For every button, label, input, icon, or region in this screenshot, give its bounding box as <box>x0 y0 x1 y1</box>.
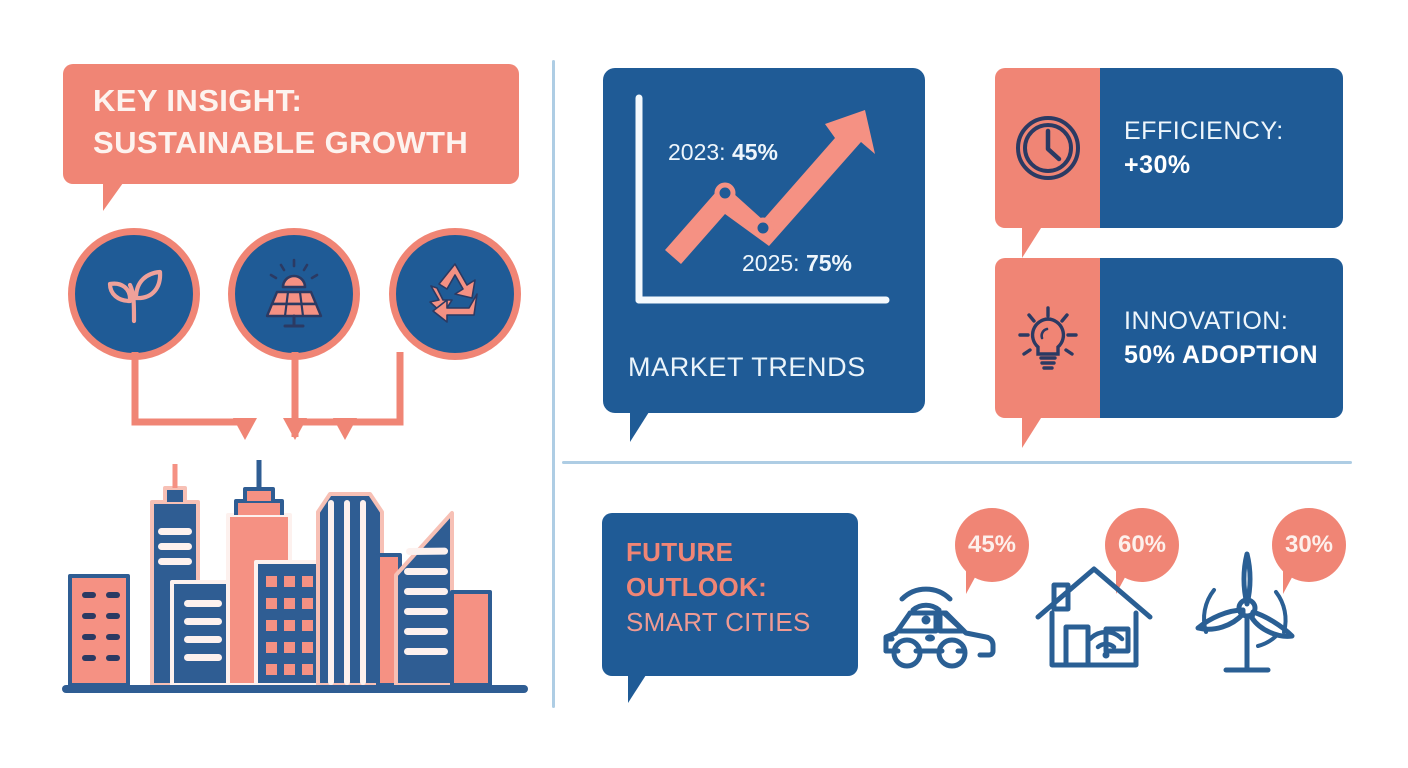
future-outlook-line-1: FUTURE <box>626 535 858 570</box>
future-outlook-tail <box>628 675 646 703</box>
recycle-icon[interactable] <box>389 228 521 360</box>
chart-label-2025: 2025: 75% <box>742 250 852 277</box>
city-skyline <box>60 440 530 705</box>
future-outlook-line-3: SMART CITIES <box>626 605 858 640</box>
efficiency-text: EFFICIENCY: +30% <box>1100 68 1343 228</box>
chart-label-2023-value: 45% <box>732 139 778 165</box>
market-trends-tail <box>630 412 649 442</box>
smart-home-icon[interactable] <box>1032 555 1160 677</box>
market-trends-label: MARKET TRENDS <box>628 352 903 383</box>
car-percent-value: 45% <box>968 531 1016 559</box>
lightbulb-icon <box>995 258 1100 418</box>
chart-label-2023-prefix: 2023: <box>668 139 732 165</box>
vertical-divider <box>552 60 555 708</box>
innovation-value: 50% ADOPTION <box>1124 338 1343 372</box>
infographic-canvas: KEY INSIGHT: SUSTAINABLE GROWTH <box>0 0 1408 768</box>
banner-line-2: SUSTAINABLE GROWTH <box>93 122 519 164</box>
innovation-label: INNOVATION: <box>1124 304 1343 338</box>
chart-label-2025-prefix: 2025: <box>742 250 806 276</box>
innovation-text: INNOVATION: 50% ADOPTION <box>1100 258 1343 418</box>
innovation-card: INNOVATION: 50% ADOPTION <box>995 258 1343 418</box>
clock-icon <box>995 68 1100 228</box>
banner-tail <box>103 183 123 211</box>
key-insight-banner: KEY INSIGHT: SUSTAINABLE GROWTH <box>63 64 519 184</box>
solar-panel-icon-glyph <box>254 254 334 334</box>
future-outlook-card: FUTURE OUTLOOK: SMART CITIES <box>602 513 858 676</box>
efficiency-value: +30% <box>1124 148 1343 182</box>
innovation-card-tail <box>1022 418 1041 448</box>
clock-icon-glyph <box>1013 113 1083 183</box>
chart-label-2023: 2023: 45% <box>668 139 778 166</box>
leaf-icon[interactable] <box>68 228 200 360</box>
leaf-icon-glyph <box>97 257 171 331</box>
chart-label-2025-value: 75% <box>806 250 852 276</box>
horizontal-divider <box>562 461 1352 464</box>
banner-line-1: KEY INSIGHT: <box>93 80 519 122</box>
connected-car-icon[interactable] <box>874 565 1014 673</box>
recycle-icon-glyph <box>417 256 493 332</box>
efficiency-card-tail <box>1022 228 1041 258</box>
future-outlook-line-2: OUTLOOK: <box>626 570 858 605</box>
wind-turbine-icon[interactable] <box>1186 548 1308 680</box>
solar-panel-icon[interactable] <box>228 228 360 360</box>
lightbulb-icon-glyph <box>1012 302 1084 374</box>
efficiency-card: EFFICIENCY: +30% <box>995 68 1343 228</box>
efficiency-label: EFFICIENCY: <box>1124 114 1343 148</box>
